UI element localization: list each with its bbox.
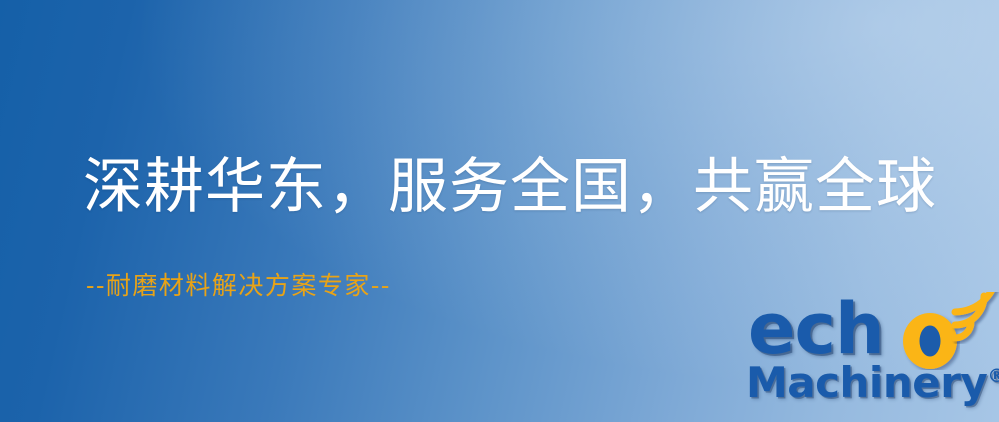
- logo-echo-letters: ech: [748, 294, 884, 364]
- signal-waves-icon: [949, 292, 999, 344]
- company-logo: ech: [744, 292, 994, 420]
- logo-brand-text: Machinery: [746, 358, 987, 407]
- page-title: 深耕华东，服务全国，共赢全球: [83, 152, 953, 223]
- promo-banner: 深耕华东，服务全国，共赢全球 --耐磨材料解决方案专家-- ech: [0, 0, 999, 422]
- registered-trademark-icon: ®: [987, 365, 999, 387]
- logo-brand-line: Machinery®: [746, 360, 999, 406]
- logo-wordmark: ech: [744, 292, 994, 366]
- page-subtitle: --耐磨材料解决方案专家--: [86, 266, 391, 302]
